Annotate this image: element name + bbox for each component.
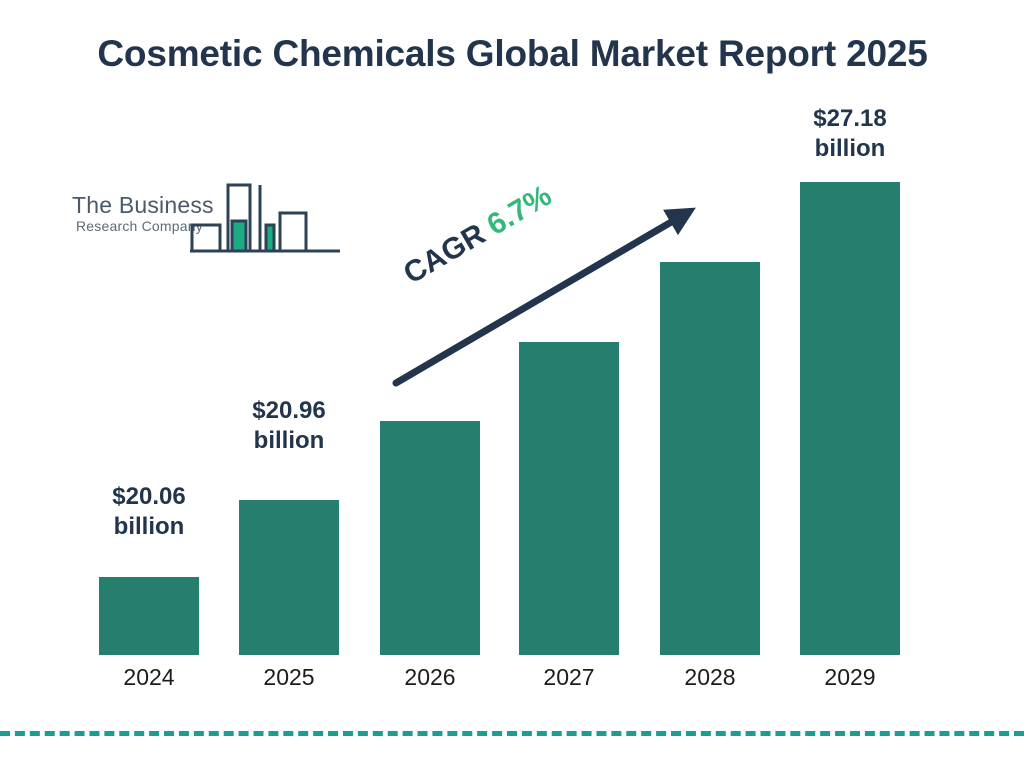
bar-value-2029-unit: billion	[783, 134, 917, 164]
x-tick-2027: 2027	[509, 663, 629, 691]
x-tick-2026: 2026	[370, 663, 490, 691]
x-tick-2025: 2025	[229, 663, 349, 691]
bar-2024	[99, 577, 199, 655]
bar-value-2024-amount: $20.06	[82, 482, 216, 512]
bar-value-2025: $20.96 billion	[222, 396, 356, 456]
bar-value-2025-unit: billion	[222, 426, 356, 456]
x-tick-2024: 2024	[89, 663, 209, 691]
bar-value-2029-amount: $27.18	[783, 104, 917, 134]
x-tick-2029: 2029	[790, 663, 910, 691]
chart-page: Cosmetic Chemicals Global Market Report …	[0, 0, 1024, 768]
bar-2029	[800, 182, 900, 655]
bar-value-2029: $27.18 billion	[783, 104, 917, 164]
bar-value-2025-amount: $20.96	[222, 396, 356, 426]
x-tick-2028: 2028	[650, 663, 770, 691]
bar-value-2024-unit: billion	[82, 512, 216, 542]
footer-divider	[0, 731, 1024, 736]
bar-chart-plot: $20.06 billion $20.96 billion $27.18 bil…	[0, 0, 1024, 768]
growth-arrow	[380, 190, 720, 400]
bar-value-2024: $20.06 billion	[82, 482, 216, 542]
bar-2026	[380, 421, 480, 655]
bar-2025	[239, 500, 339, 655]
